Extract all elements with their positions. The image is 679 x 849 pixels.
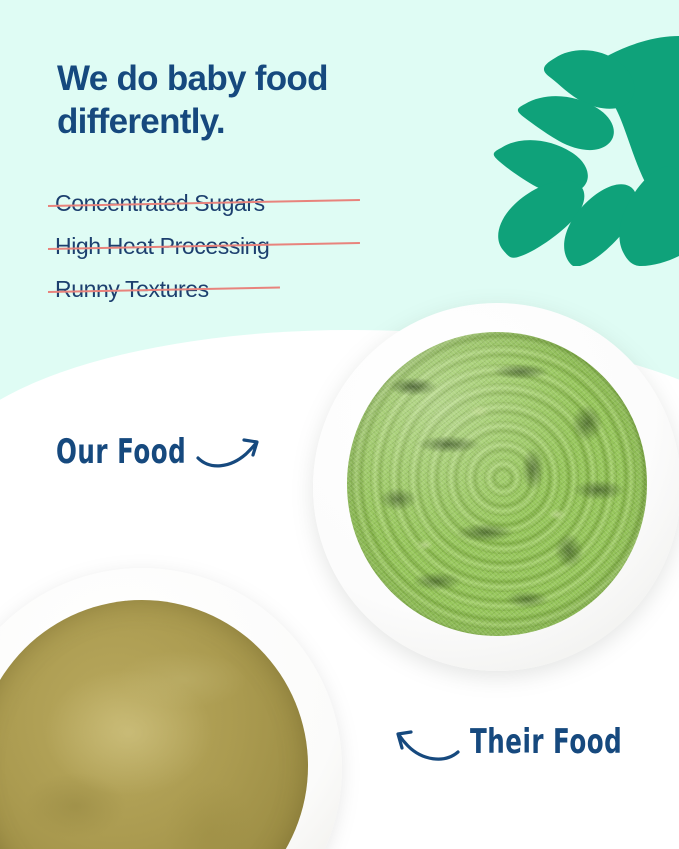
negative-item-runny-textures: Runny Textures (55, 274, 415, 317)
negative-item-high-heat-processing: High Heat Processing (55, 231, 415, 274)
headline-line-2: differently. (57, 101, 457, 144)
bowl-our-food (313, 303, 679, 671)
bowl-their-food (0, 568, 342, 849)
their-food-label: Their Food (470, 723, 622, 762)
ad-canvas: We do baby food differently. Concentrate… (0, 0, 679, 849)
headline: We do baby food differently. (57, 58, 457, 143)
green-puree (347, 332, 647, 636)
green-puree-grain (347, 332, 647, 636)
curved-arrow-left-icon (392, 726, 462, 768)
negatives-list: Concentrated Sugars High Heat Processing… (55, 188, 415, 317)
our-food-label: Our Food (56, 433, 186, 472)
curved-arrow-right-icon (196, 434, 262, 476)
tan-puree-sheen (0, 600, 308, 849)
negative-item-concentrated-sugars: Concentrated Sugars (55, 188, 415, 231)
headline-line-1: We do baby food (57, 58, 457, 101)
tan-puree (0, 600, 308, 849)
